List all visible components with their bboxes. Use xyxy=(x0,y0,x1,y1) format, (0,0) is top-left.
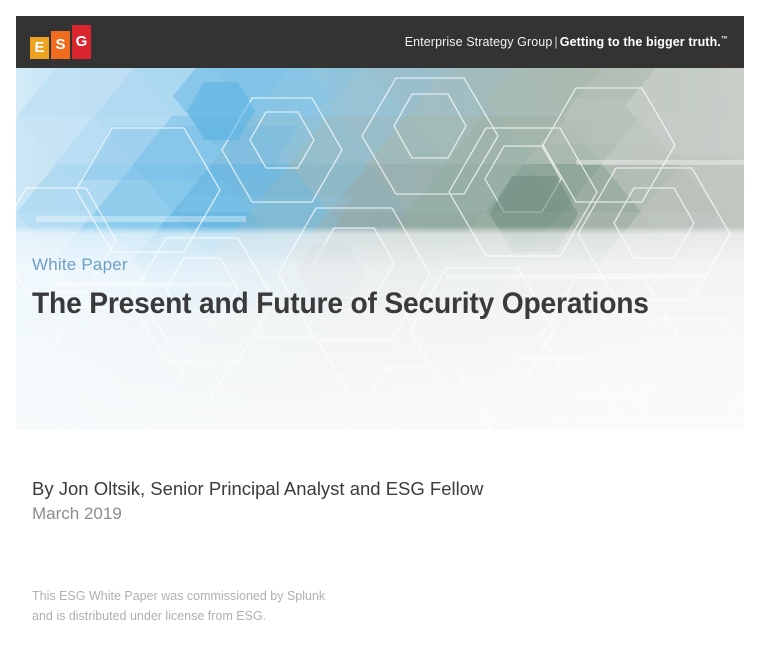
esg-logo: E S G xyxy=(30,25,91,59)
logo-bar-g: G xyxy=(72,25,91,59)
author-byline: By Jon Oltsik, Senior Principal Analyst … xyxy=(32,478,722,500)
publication-date: March 2019 xyxy=(32,504,722,524)
title-block: White Paper The Present and Future of Se… xyxy=(32,255,722,321)
header-tagline: Enterprise Strategy Group|Getting to the… xyxy=(405,35,728,49)
tagline-separator: | xyxy=(552,35,559,49)
page-header-bar: E S G Enterprise Strategy Group|Getting … xyxy=(16,16,744,68)
document-type-label: White Paper xyxy=(32,255,722,275)
white-paper-cover-page: E S G Enterprise Strategy Group|Getting … xyxy=(0,0,760,658)
logo-bar-s: S xyxy=(51,31,70,59)
disclaimer-line-1: This ESG White Paper was commissioned by… xyxy=(32,586,632,606)
tagline-company: Enterprise Strategy Group xyxy=(405,35,553,49)
logo-bar-e: E xyxy=(30,37,49,59)
disclaimer-line-2: and is distributed under license from ES… xyxy=(32,606,632,626)
author-block: By Jon Oltsik, Senior Principal Analyst … xyxy=(32,478,722,524)
trademark-symbol: ™ xyxy=(721,36,728,43)
commission-disclaimer: This ESG White Paper was commissioned by… xyxy=(32,586,632,627)
page-title: The Present and Future of Security Opera… xyxy=(32,287,681,321)
hexagon-pattern-graphic xyxy=(16,68,744,430)
tagline-slogan: Getting to the bigger truth. xyxy=(560,35,721,49)
hero-banner-image xyxy=(16,68,744,430)
